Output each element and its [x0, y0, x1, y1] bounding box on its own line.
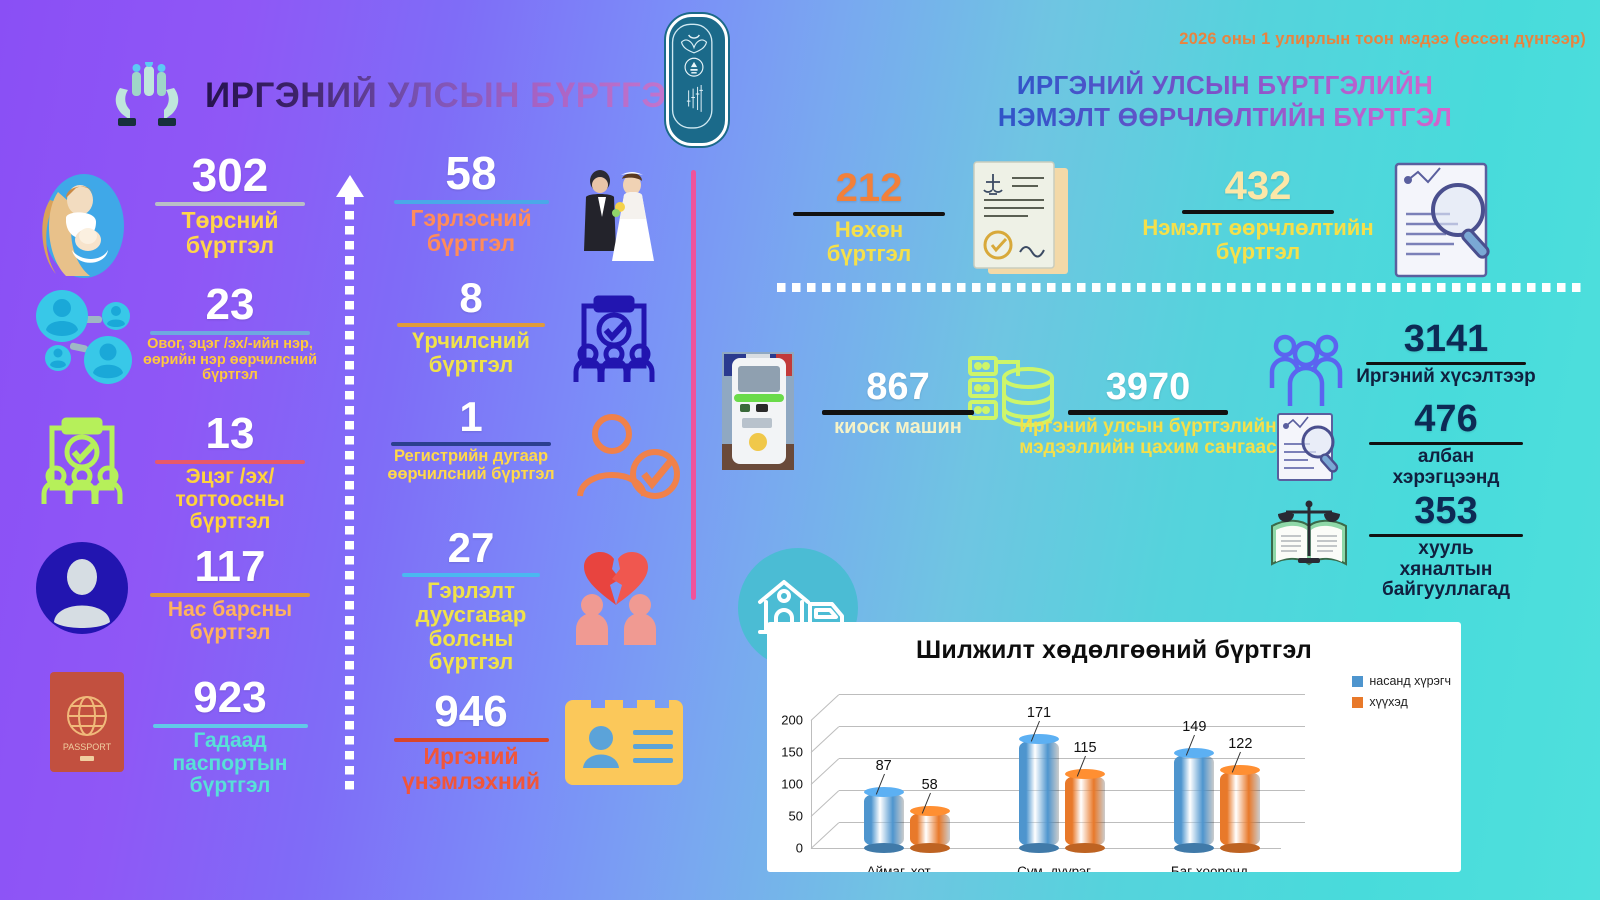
stat-value: 302	[135, 152, 325, 198]
stat-rule	[155, 202, 305, 206]
chart-bar-bottom	[1065, 843, 1105, 853]
wedding-couple-icon	[572, 165, 664, 270]
chart-bar-top	[910, 806, 950, 816]
chart-bar-bottom	[910, 843, 950, 853]
stat-rule	[822, 410, 974, 415]
stat-rule	[402, 573, 540, 577]
stat-label: Үрчилсний бүртгэл	[378, 329, 564, 377]
chart-axis-connector	[811, 758, 840, 785]
chart-legend: насанд хүрэгчхүүхэд	[1352, 674, 1451, 716]
stat-block: 117Нас барсны бүртгэл	[135, 545, 325, 644]
stat-value: 8	[378, 277, 564, 319]
stat-value: 353	[1352, 492, 1540, 530]
chart-legend-item: хүүхэд	[1352, 695, 1451, 709]
chart-data-label: 122	[1212, 736, 1268, 752]
stat-block: 923Гадаад паспортын бүртгэл	[135, 676, 325, 798]
arrow-up-icon	[336, 175, 364, 197]
stat-label: Регистрийн дугаар өөрчилсний бүртгэл	[370, 448, 572, 484]
infographic-canvas: ИРГЭНИЙ УЛСЫН БҮРТГЭЛ 2026 оны 1 улирлын…	[0, 0, 1600, 900]
chart-axis-connector	[811, 790, 840, 817]
stat-label: Төрсний бүртгэл	[135, 208, 325, 258]
chart-axis-connector	[811, 726, 840, 753]
stat-value: 432	[1130, 166, 1386, 206]
chart-bar	[1174, 753, 1214, 848]
stat-label: Иргэний үнэмлэхний	[378, 744, 564, 794]
date-note: 2026 оны 1 улирлын тоон мэдээ (өссөн дүн…	[1179, 30, 1586, 49]
chart-legend-label: насанд хүрэгч	[1369, 674, 1451, 688]
page-title-right: ИРГЭНИЙ УЛСЫН БҮРТГЭЛИЙН НЭМЭЛТ ӨӨРЧЛӨЛТ…	[905, 70, 1545, 133]
chart-axis-connector	[811, 694, 840, 721]
stat-value: 3141	[1348, 320, 1544, 358]
stat-rule	[153, 724, 308, 728]
chart-y-tick: 0	[769, 841, 803, 856]
stat-block: 13Эцэг /эх/ тогтоосны бүртгэл	[135, 412, 325, 534]
stat-value: 476	[1352, 400, 1540, 438]
chart-bar	[864, 792, 904, 848]
stat-rule	[1182, 210, 1334, 214]
chart-y-tick: 100	[769, 777, 803, 792]
chart-legend-swatch	[1352, 697, 1363, 708]
stat-label: Иргэний хүсэлтээр	[1348, 367, 1544, 388]
stat-value: 13	[135, 412, 325, 456]
vertical-pink-divider	[691, 170, 696, 600]
chart-legend-swatch	[1352, 676, 1363, 687]
chart-bar-top	[1174, 748, 1214, 758]
stat-label: Гэрлэсний бүртгэл	[378, 206, 564, 256]
page-title-right-line2: НЭМЭЛТ ӨӨРЧЛӨЛТИЙН БҮРТГЭЛ	[905, 102, 1545, 134]
horizontal-dotted-divider	[777, 283, 1585, 292]
chart-plot-area: 0501001502008758Аймаг, хот171115Сум, дүү…	[797, 684, 1317, 864]
stat-block: 58Гэрлэсний бүртгэл	[378, 150, 564, 256]
stat-value: 3970	[1000, 368, 1296, 406]
stat-value: 1	[370, 396, 572, 438]
chart-data-label: 115	[1057, 740, 1113, 756]
chart-bar-bottom	[1174, 843, 1214, 853]
vertical-dotted-divider	[345, 196, 354, 796]
stat-block: 23Овог, эцэг /эх/-ийн нэр, өөрийн нэр өө…	[125, 283, 335, 384]
stat-rule	[1369, 442, 1523, 445]
stat-rule	[1366, 362, 1527, 365]
stat-rule	[150, 593, 310, 597]
stat-block: 8Үрчилсний бүртгэл	[378, 277, 564, 377]
stat-rule	[394, 200, 549, 204]
stat-label: Эцэг /эх/ тогтоосны бүртгэл	[135, 466, 325, 534]
chart-data-label: 87	[856, 758, 912, 774]
stat-block: 212Нөхөн бүртгэл	[778, 168, 960, 266]
chart-bar	[1065, 774, 1105, 848]
clipboard-check-people-icon	[568, 292, 660, 388]
stat-rule	[391, 442, 551, 446]
stat-value: 58	[378, 150, 564, 196]
chart-data-label: 171	[1011, 705, 1067, 721]
clipboard-people-icon	[36, 414, 128, 510]
stat-block: 946Иргэний үнэмлэхний	[378, 690, 564, 794]
person-check-icon	[572, 412, 682, 504]
stat-block: 3970Иргэний улсын бүртгэлийн мэдээллийн …	[1000, 368, 1296, 458]
chart-gridline	[839, 694, 1305, 695]
chart-bar-top	[1220, 765, 1260, 775]
stat-label: Овог, эцэг /эх/-ийн нэр, өөрийн нэр өөрч…	[125, 337, 335, 384]
id-card-icon	[565, 700, 683, 785]
stat-value: 23	[125, 283, 335, 327]
stat-value: 117	[135, 545, 325, 589]
chart-bar-bottom	[1220, 843, 1260, 853]
chart-x-label: Сум, дүүрэг	[976, 864, 1131, 872]
stat-rule	[397, 323, 545, 327]
stat-value: 946	[378, 690, 564, 734]
stat-block: 432Нэмэлт өөрчлөлтийн бүртгэл	[1130, 166, 1386, 264]
person-avatar-icon	[36, 542, 128, 634]
stat-label: Нас барсны бүртгэл	[135, 599, 325, 644]
mother-child-icon	[32, 170, 132, 280]
stat-block: 867киоск машин	[800, 368, 996, 439]
chart-axis-connector	[811, 822, 840, 849]
chart-y-tick: 50	[769, 809, 803, 824]
stat-label: киоск машин	[800, 417, 996, 439]
stat-block: 476албан хэрэгцээнд	[1352, 400, 1540, 488]
stat-label: Иргэний улсын бүртгэлийн мэдээллийн цахи…	[1000, 417, 1296, 458]
passport-icon: PASSPORT	[50, 672, 124, 772]
chart-y-tick: 200	[769, 713, 803, 728]
chart-bar	[1019, 739, 1059, 848]
stat-value: 27	[380, 527, 562, 569]
page-title-right-line1: ИРГЭНИЙ УЛСЫН БҮРТГЭЛИЙН	[905, 70, 1545, 102]
chart-y-axis	[811, 720, 812, 848]
chart-x-label: Аймаг, хот	[821, 864, 976, 872]
stat-block: 1Регистрийн дугаар өөрчилсний бүртгэл	[370, 396, 572, 484]
law-book-scales-icon	[1268, 498, 1350, 570]
stat-label: Нөхөн бүртгэл	[778, 218, 960, 266]
hands-people-icon	[108, 62, 186, 128]
chart-y-tick: 150	[769, 745, 803, 760]
broken-heart-couple-icon	[566, 545, 666, 645]
stat-label: албан хэрэгцээнд	[1352, 447, 1540, 488]
kiosk-machine-icon	[722, 352, 794, 470]
page-title-left: ИРГЭНИЙ УЛСЫН БҮРТГЭЛ	[205, 76, 690, 116]
stat-label: Гадаад паспортын бүртгэл	[135, 730, 325, 798]
chart-data-label: 149	[1166, 719, 1222, 735]
chart-gridline	[839, 726, 1305, 727]
stat-block: 353хууль хяналтын байгууллагад	[1352, 492, 1540, 601]
stat-value: 867	[800, 368, 996, 406]
chart-card: Шилжилт хөдөлгөөний бүртгэл насанд хүрэг…	[767, 622, 1461, 872]
stat-label: Гэрлэлт дуусгавар болсны бүртгэл	[380, 579, 562, 674]
stat-block: 302Төрсний бүртгэл	[135, 152, 325, 258]
document-magnifier-icon	[1382, 160, 1502, 280]
chart-legend-item: насанд хүрэгч	[1352, 674, 1451, 688]
stat-value: 923	[135, 676, 325, 720]
stat-rule	[155, 460, 305, 464]
stat-block: 27Гэрлэлт дуусгавар болсны бүртгэл	[380, 527, 562, 674]
chart-x-label: Баг хооронд	[1132, 864, 1287, 872]
mongolia-state-emblem-icon	[666, 14, 728, 146]
stat-rule	[1068, 410, 1228, 415]
stat-value: 212	[778, 168, 960, 208]
stat-rule	[793, 212, 945, 216]
stat-block: 3141Иргэний хүсэлтээр	[1348, 320, 1544, 388]
chart-bar-bottom	[864, 843, 904, 853]
chart-legend-label: хүүхэд	[1369, 695, 1407, 709]
svg-text:PASSPORT: PASSPORT	[63, 742, 112, 752]
certificate-seal-icon	[960, 160, 1080, 282]
chart-bar-bottom	[1019, 843, 1059, 853]
stat-rule	[150, 331, 310, 335]
stat-rule	[1369, 534, 1523, 537]
chart-bar	[1220, 770, 1260, 848]
chart-data-label: 58	[902, 777, 958, 793]
stat-rule	[394, 738, 549, 742]
stat-label: хууль хяналтын байгууллагад	[1352, 539, 1540, 601]
chart-bar-top	[1019, 734, 1059, 744]
chart-title: Шилжилт хөдөлгөөний бүртгэл	[767, 636, 1461, 665]
stat-label: Нэмэлт өөрчлөлтийн бүртгэл	[1130, 216, 1386, 264]
